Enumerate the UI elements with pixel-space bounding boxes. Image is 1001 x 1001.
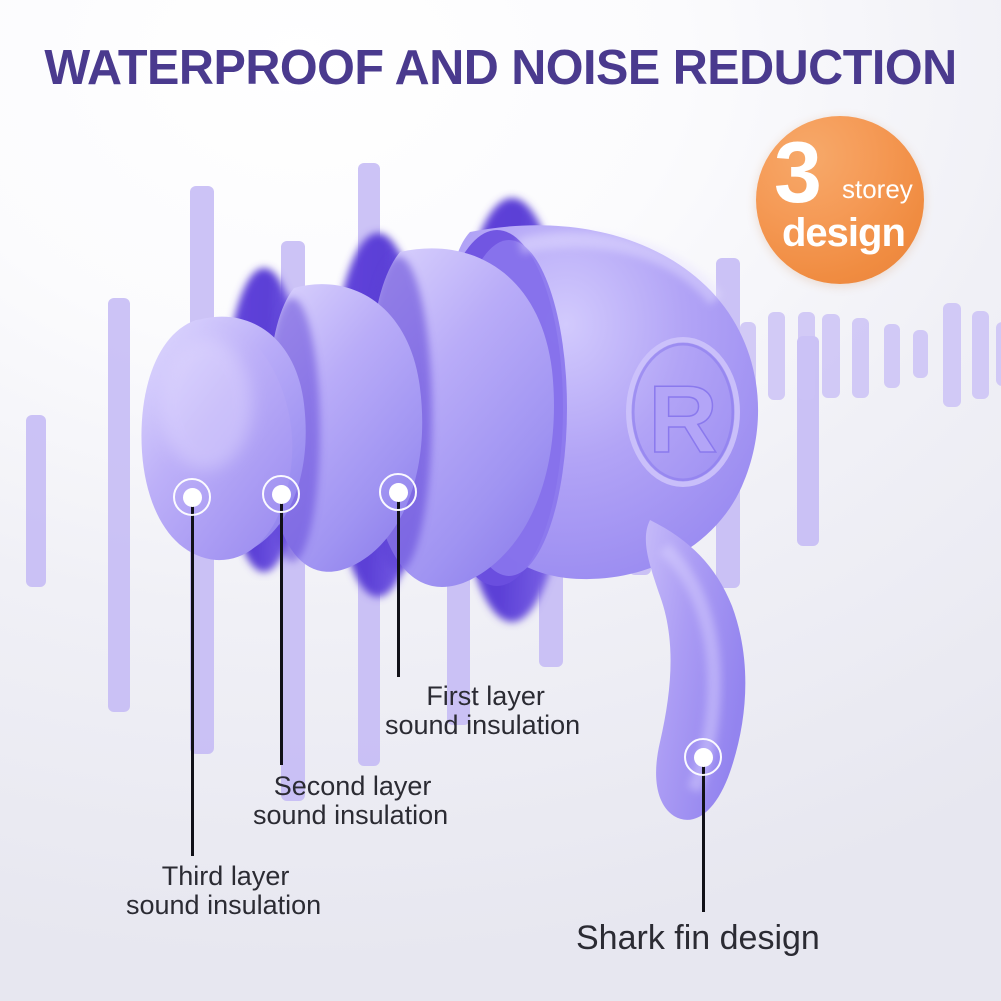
callout-label-shark-line1: Shark fin design bbox=[576, 920, 820, 956]
r-marking-letter: R bbox=[648, 366, 717, 473]
storey-design-badge: 3 storey design bbox=[756, 116, 924, 284]
callout-label-second: Second layer sound insulation bbox=[253, 772, 448, 830]
callout-label-second-line2: sound insulation bbox=[253, 801, 448, 830]
callout-marker-second[interactable] bbox=[262, 475, 300, 513]
callout-label-third-line2: sound insulation bbox=[126, 891, 321, 920]
leader-line-second bbox=[280, 503, 283, 765]
badge-unit: storey bbox=[842, 176, 913, 202]
badge-number: 3 bbox=[774, 130, 820, 216]
callout-marker-third[interactable] bbox=[173, 478, 211, 516]
callout-label-second-line1: Second layer bbox=[257, 772, 448, 801]
callout-label-third: Third layer sound insulation bbox=[126, 862, 321, 920]
callout-label-first-line2: sound insulation bbox=[385, 711, 580, 740]
leader-line-first bbox=[397, 501, 400, 677]
callout-marker-shark[interactable] bbox=[684, 738, 722, 776]
callout-label-third-line1: Third layer bbox=[130, 862, 321, 891]
callout-label-shark: Shark fin design bbox=[576, 920, 820, 956]
callout-marker-first[interactable] bbox=[379, 473, 417, 511]
callout-label-first-line1: First layer bbox=[391, 682, 580, 711]
leader-line-third bbox=[191, 506, 194, 856]
callout-label-first: First layer sound insulation bbox=[385, 682, 580, 740]
leader-line-shark bbox=[702, 766, 705, 912]
product-infographic: WATERPROOF AND NOISE REDUCTION bbox=[0, 0, 1001, 1001]
badge-word: design bbox=[782, 213, 905, 253]
